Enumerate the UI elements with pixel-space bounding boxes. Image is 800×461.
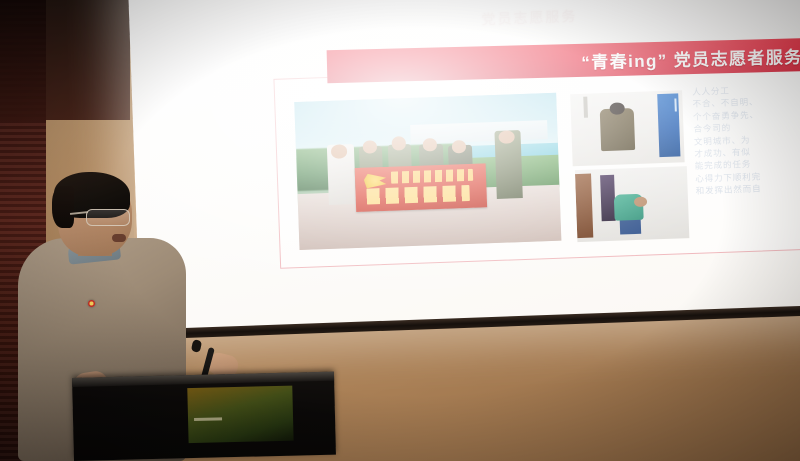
group-volunteer-photo bbox=[294, 93, 561, 250]
photo-person-head bbox=[331, 145, 347, 159]
slide-body-text: 人人分工 不合、不自明、 个个奋勇争先、 合今司的 文明城市、为 才成功、有似 … bbox=[692, 81, 800, 197]
presentation-scene: 党员志愿服务 “青春ing” 党员志愿者服务队 bbox=[0, 0, 800, 461]
podium bbox=[72, 372, 336, 461]
photo-kiosk-screen bbox=[674, 98, 677, 111]
photo-red-banner bbox=[354, 163, 487, 212]
projection-screen: 党员志愿服务 “青春ing” 党员志愿者服务队 bbox=[128, 0, 800, 336]
photo-door bbox=[575, 174, 593, 238]
photo-pole bbox=[584, 97, 588, 119]
presentation-slide: 党员志愿服务 “青春ing” 党员志愿者服务队 bbox=[128, 0, 800, 336]
photo-person-head bbox=[498, 130, 514, 144]
glasses-icon bbox=[86, 209, 130, 226]
photo-kiosk bbox=[658, 93, 680, 157]
speaker-hair-side bbox=[52, 186, 74, 228]
slide-faint-header: 党员志愿服务 bbox=[481, 1, 722, 30]
banner-text-line-2 bbox=[367, 185, 470, 205]
wall-shadow-corner bbox=[0, 0, 130, 120]
party-member-pin-icon bbox=[88, 300, 95, 307]
party-emblem-icon bbox=[364, 173, 387, 189]
photo-doorway bbox=[600, 174, 616, 221]
podium-front-panel bbox=[188, 386, 294, 443]
photo-worker-head bbox=[634, 196, 647, 207]
slide-title-text: “青春ing” 党员志愿者服务队 bbox=[581, 42, 800, 73]
volunteer-activity-photo-2 bbox=[575, 166, 690, 242]
banner-text-line-1 bbox=[391, 169, 473, 183]
photo-person-head bbox=[391, 137, 406, 151]
volunteer-activity-photo-1 bbox=[570, 90, 685, 166]
speaker-mouth bbox=[112, 234, 126, 242]
